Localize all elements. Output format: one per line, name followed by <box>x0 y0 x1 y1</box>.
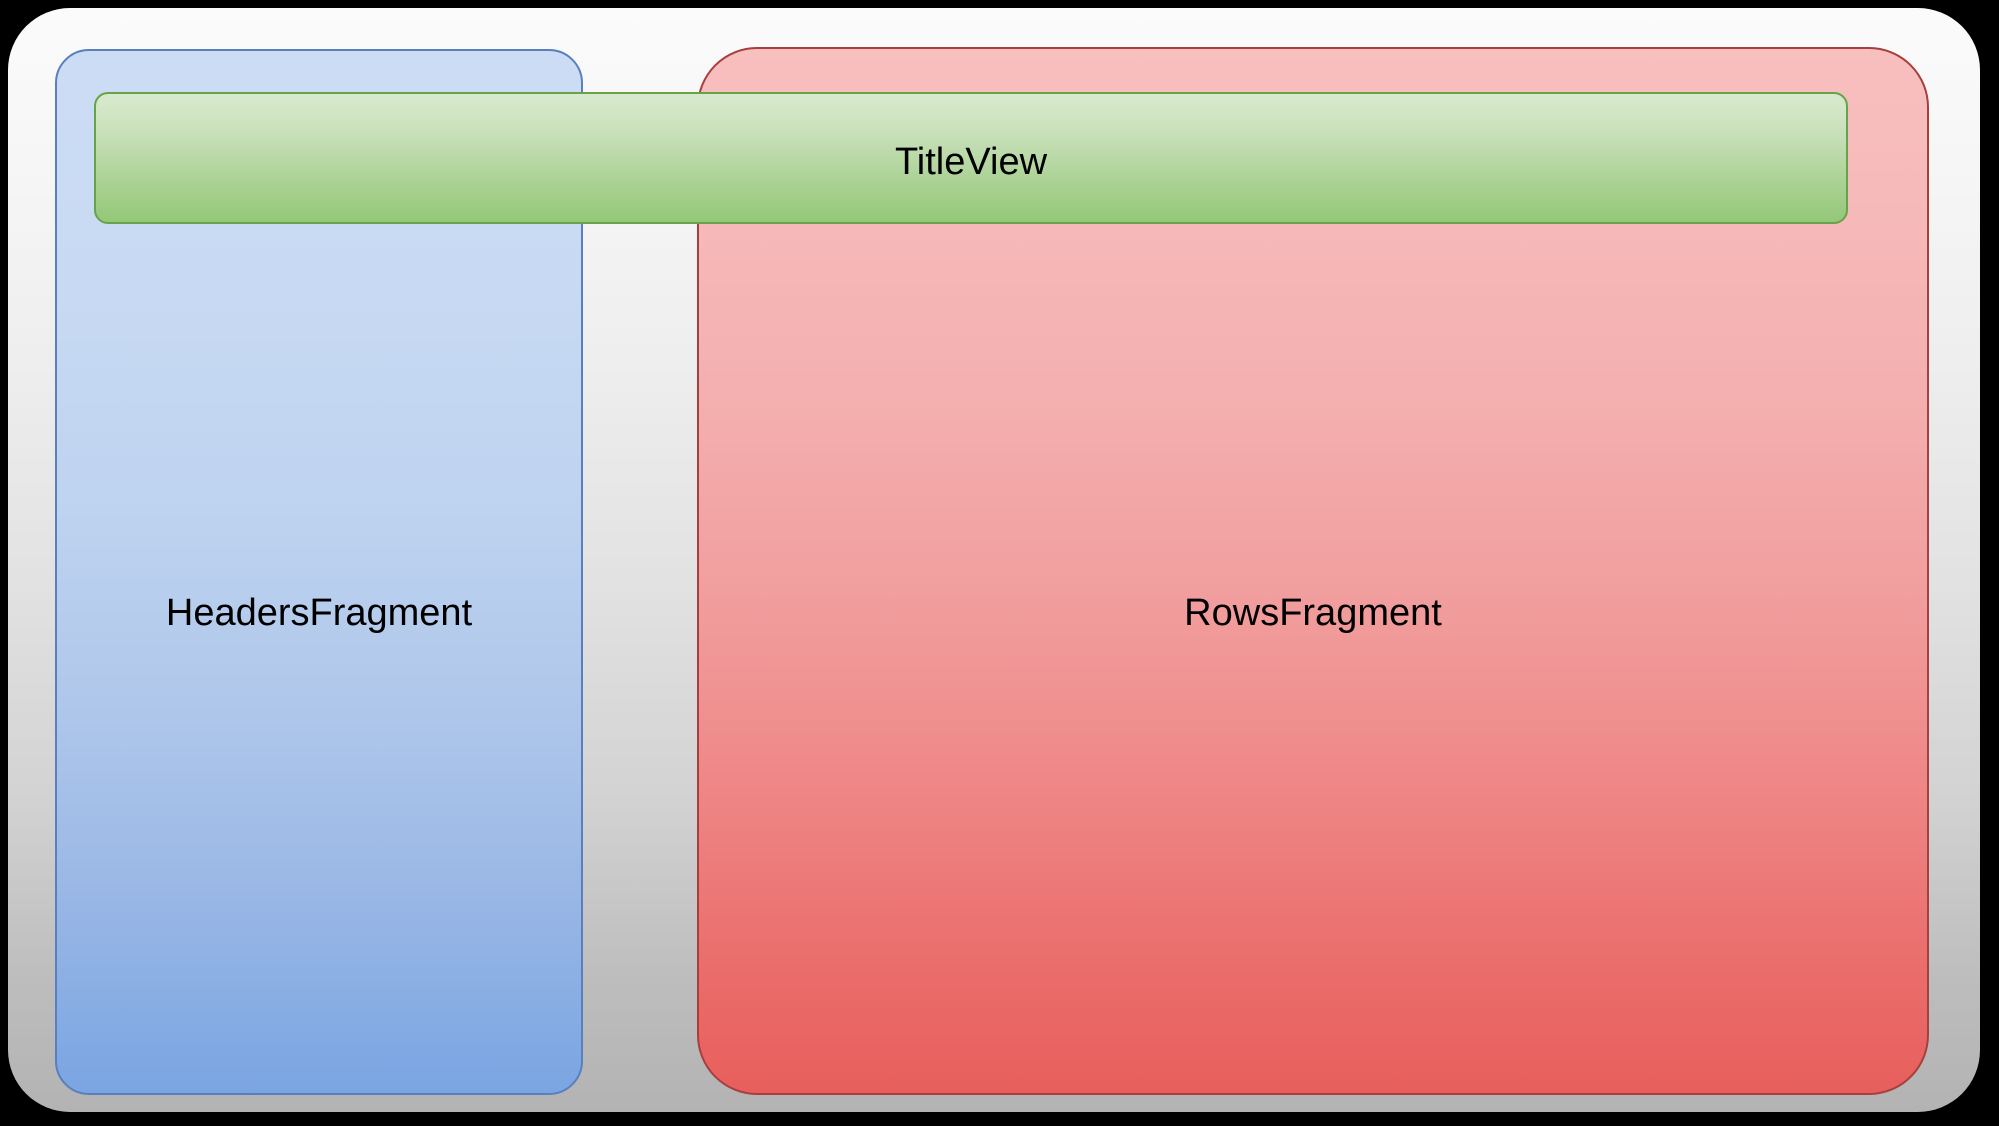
headers-fragment-label: HeadersFragment <box>57 594 581 632</box>
rows-fragment-label: RowsFragment <box>699 594 1927 632</box>
browse-fragment-root-container: HeadersFragment RowsFragment TitleView <box>8 8 1980 1112</box>
title-view-label: TitleView <box>96 143 1846 181</box>
diagram-canvas: HeadersFragment RowsFragment TitleView <box>0 0 1999 1126</box>
title-view-panel[interactable]: TitleView <box>94 92 1848 224</box>
